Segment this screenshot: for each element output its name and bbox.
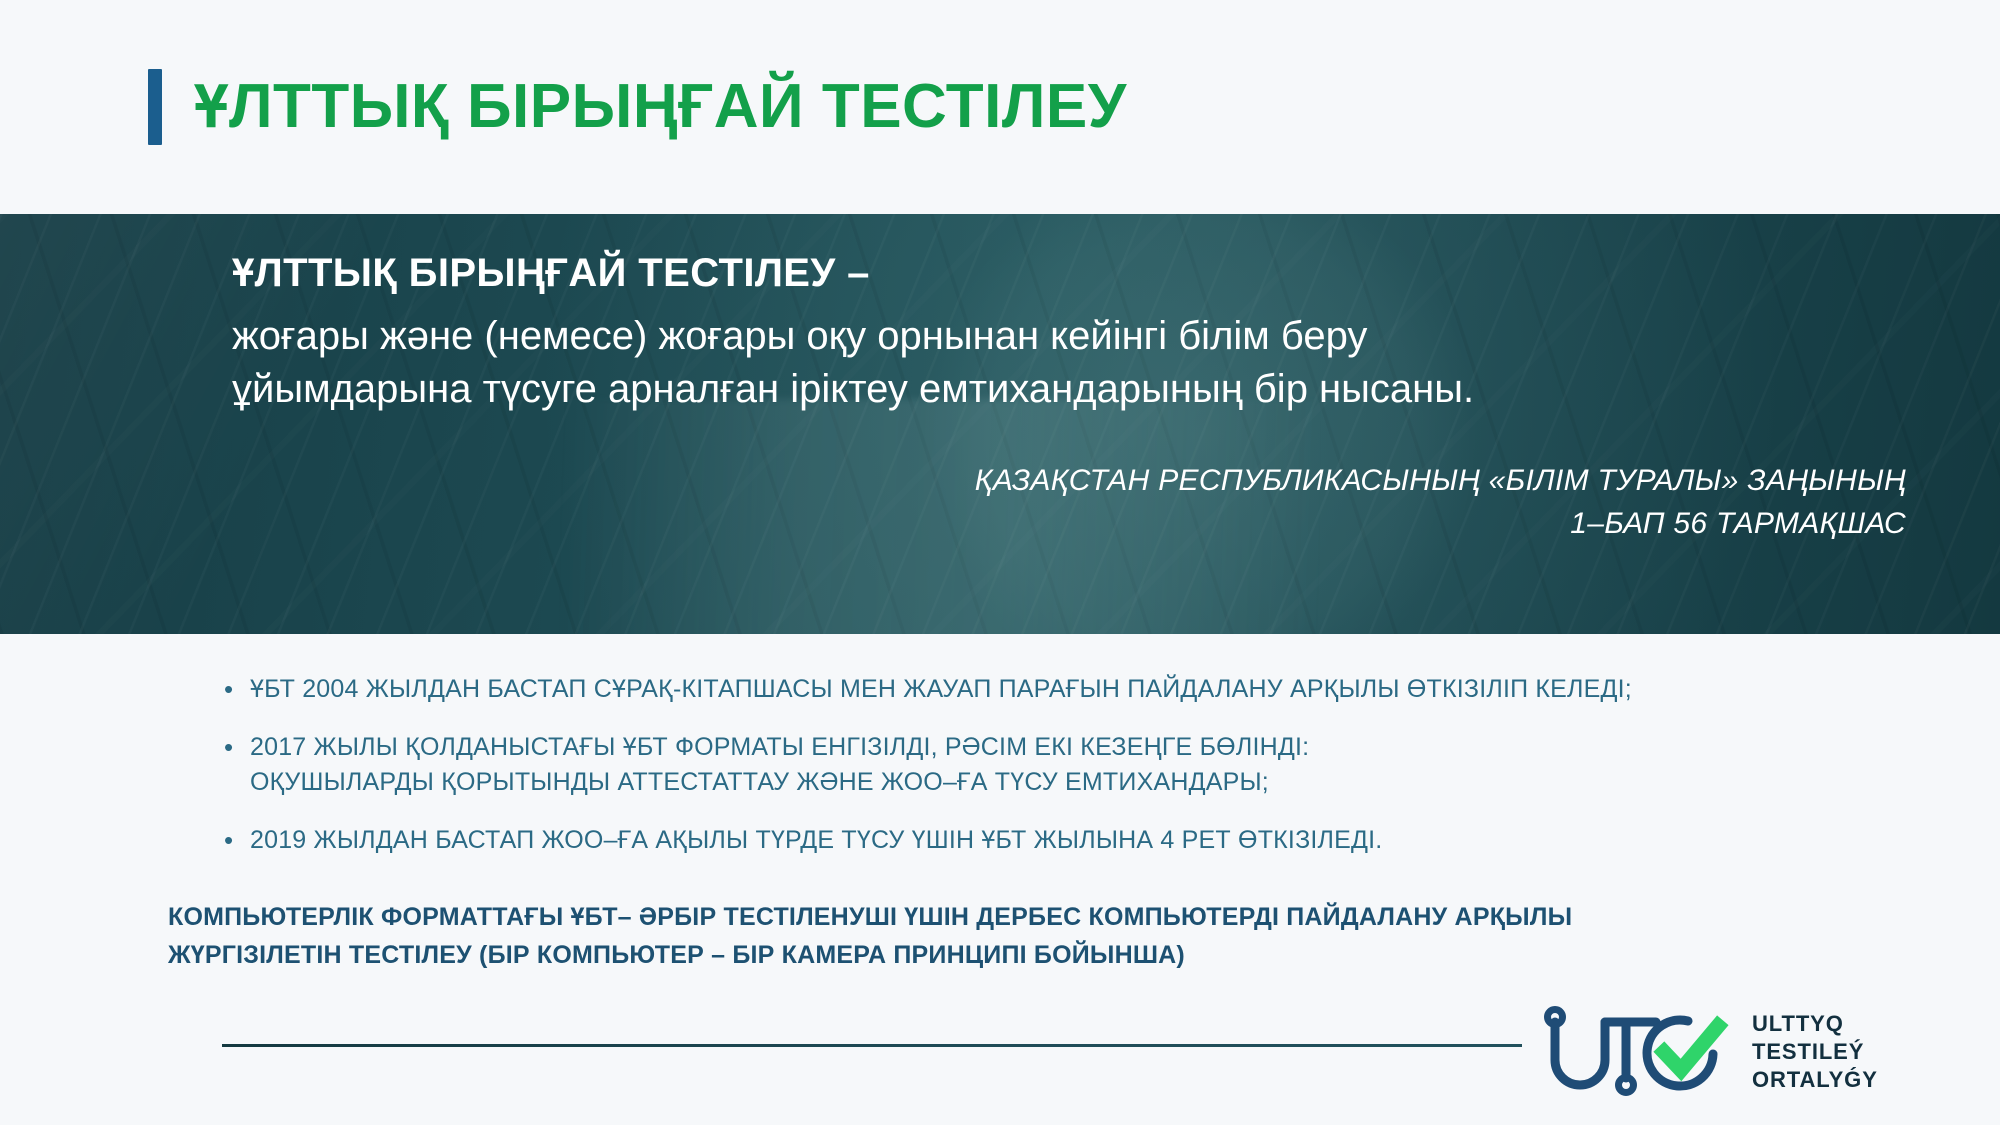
definition-banner: ҰЛТТЫҚ БІРЫҢҒАЙ ТЕСТІЛЕУ – жоғары және (… bbox=[0, 214, 2000, 634]
bullet-marker-icon: • bbox=[224, 823, 250, 859]
bullet-list: • ҰБТ 2004 ЖЫЛДАН БАСТАП СҰРАҚ-КІТАПШАСЫ… bbox=[224, 672, 1924, 880]
list-item-text: 2019 ЖЫЛДАН БАСТАП ЖОО–ҒА АҚЫЛЫ ТҮРДЕ ТҮ… bbox=[250, 823, 1382, 859]
logo-line-2: TESTILEÝ bbox=[1752, 1038, 1878, 1066]
list-item: • ҰБТ 2004 ЖЫЛДАН БАСТАП СҰРАҚ-КІТАПШАСЫ… bbox=[224, 672, 1924, 708]
banner-lead-text: ҰЛТТЫҚ БІРЫҢҒАЙ ТЕСТІЛЕУ – bbox=[232, 248, 1906, 298]
list-item: • 2017 ЖЫЛЫ ҚОЛДАНЫСТАҒЫ ҰБТ ФОРМАТЫ ЕНГ… bbox=[224, 730, 1924, 801]
bullet-marker-icon: • bbox=[224, 730, 250, 801]
logo-line-3: ORTALYǴY bbox=[1752, 1066, 1878, 1094]
list-item-line: ОҚУШЫЛАРДЫ ҚОРЫТЫНДЫ АТТЕСТАТТАУ ЖӘНЕ ЖО… bbox=[250, 765, 1309, 801]
banner-body-line-1: жоғары және (немесе) жоғары оқу орнынан … bbox=[232, 310, 1906, 363]
banner-body-line-2: ұйымдарына түсуге арналған іріктеу емтих… bbox=[232, 363, 1906, 416]
bullet-marker-icon: • bbox=[224, 672, 250, 708]
logo-wordmark: ULTTYQ TESTILEÝ ORTALYǴY bbox=[1752, 1010, 1878, 1093]
emphasis-line-1: КОМПЬЮТЕРЛІК ФОРМАТТАҒЫ ҰБТ– ӘРБІР ТЕСТІ… bbox=[168, 898, 1868, 936]
uto-logo-mark-icon bbox=[1538, 1000, 1734, 1104]
list-item-line: 2017 ЖЫЛЫ ҚОЛДАНЫСТАҒЫ ҰБТ ФОРМАТЫ ЕНГІЗ… bbox=[250, 730, 1309, 766]
organization-logo: ULTTYQ TESTILEÝ ORTALYǴY bbox=[1538, 1000, 1878, 1104]
page-title: ҰЛТТЫҚ БІРЫҢҒАЙ ТЕСТІЛЕУ bbox=[194, 76, 1127, 138]
banner-content: ҰЛТТЫҚ БІРЫҢҒАЙ ТЕСТІЛЕУ – жоғары және (… bbox=[0, 214, 2000, 634]
header-accent-bar bbox=[148, 69, 162, 145]
list-item-text: ҰБТ 2004 ЖЫЛДАН БАСТАП СҰРАҚ-КІТАПШАСЫ М… bbox=[250, 672, 1632, 708]
slide-root: ҰЛТТЫҚ БІРЫҢҒАЙ ТЕСТІЛЕУ ҰЛТТЫҚ БІРЫҢҒАЙ… bbox=[0, 0, 2000, 1125]
emphasis-line-2: ЖҮРГІЗІЛЕТІН ТЕСТІЛЕУ (БІР КОМПЬЮТЕР – Б… bbox=[168, 936, 1868, 974]
footer-divider bbox=[222, 1044, 1522, 1047]
banner-citation-line-1: ҚАЗАҚСТАН РЕСПУБЛИКАСЫНЫҢ «БІЛІМ ТУРАЛЫ»… bbox=[232, 460, 1906, 501]
list-item-line: ҰБТ 2004 ЖЫЛДАН БАСТАП СҰРАҚ-КІТАПШАСЫ М… bbox=[250, 672, 1632, 708]
emphasis-paragraph: КОМПЬЮТЕРЛІК ФОРМАТТАҒЫ ҰБТ– ӘРБІР ТЕСТІ… bbox=[168, 898, 1868, 974]
logo-line-1: ULTTYQ bbox=[1752, 1010, 1878, 1038]
slide-header: ҰЛТТЫҚ БІРЫҢҒАЙ ТЕСТІЛЕУ bbox=[0, 0, 2000, 214]
list-item: • 2019 ЖЫЛДАН БАСТАП ЖОО–ҒА АҚЫЛЫ ТҮРДЕ … bbox=[224, 823, 1924, 859]
list-item-text: 2017 ЖЫЛЫ ҚОЛДАНЫСТАҒЫ ҰБТ ФОРМАТЫ ЕНГІЗ… bbox=[250, 730, 1309, 801]
list-item-line: 2019 ЖЫЛДАН БАСТАП ЖОО–ҒА АҚЫЛЫ ТҮРДЕ ТҮ… bbox=[250, 823, 1382, 859]
banner-citation-line-2: 1–БАП 56 ТАРМАҚШАС bbox=[232, 503, 1906, 544]
